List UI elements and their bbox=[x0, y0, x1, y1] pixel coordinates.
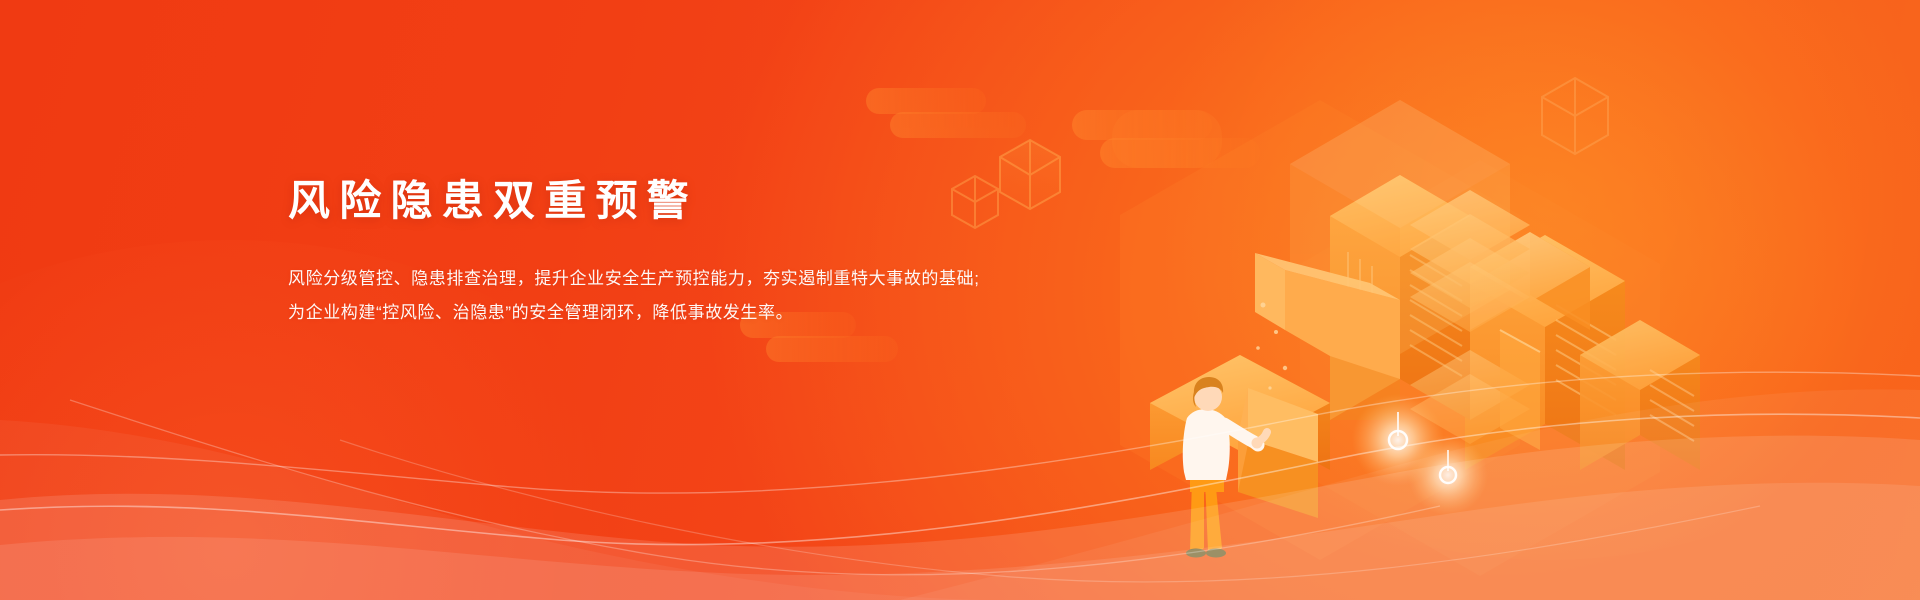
sparkle-dots bbox=[1256, 303, 1287, 390]
person-left-leg bbox=[1190, 478, 1204, 552]
hexagon-cube-fill-small-left bbox=[1000, 140, 1060, 209]
iso-slab-right-lower bbox=[1580, 320, 1700, 470]
wave-line-1 bbox=[0, 414, 1920, 544]
cloud-decoration-upper-left bbox=[866, 88, 1026, 138]
top-right-glow bbox=[1100, 0, 1920, 560]
iso-cross-slab bbox=[1255, 253, 1400, 420]
person-right-shoe bbox=[1206, 549, 1226, 558]
iso-tower-back-right bbox=[1465, 235, 1625, 470]
person-left-shoe bbox=[1186, 549, 1206, 558]
iso-block-mid-right bbox=[1470, 232, 1590, 330]
iso-tower-center bbox=[1330, 175, 1470, 420]
hexagon-cube-icon-right bbox=[1542, 78, 1608, 154]
subtitle-line-1: 风险分级管控、隐患排查治理，提升企业安全生产预控能力，夯实遏制重特大事故的基础; bbox=[288, 262, 1008, 297]
person-fist bbox=[1252, 438, 1263, 449]
iso-panel-thin bbox=[1500, 330, 1540, 450]
banner-subtitle: 风险分级管控、隐患排查治理，提升企业安全生产预控能力，夯实遏制重特大事故的基础;… bbox=[288, 262, 1008, 332]
iso-box-front-left bbox=[1150, 355, 1330, 470]
iso-stacked-plates bbox=[1410, 190, 1530, 444]
iso-box-tilted-small bbox=[1238, 388, 1318, 518]
glow-point-upper bbox=[1352, 394, 1444, 486]
large-hexagon-backdrop-2 bbox=[1300, 160, 1660, 576]
wave-fill-lower bbox=[0, 436, 1920, 600]
wave-soft-right bbox=[900, 389, 1920, 600]
wave-soft-left bbox=[0, 420, 1000, 600]
wave-line-2 bbox=[0, 372, 1920, 493]
hero-banner: 风险隐患双重预警 风险分级管控、隐患排查治理，提升企业安全生产预控能力，夯实遏制… bbox=[0, 0, 1920, 600]
subtitle-line-2: 为企业构建“控风险、治隐患”的安全管理闭环，降低事故发生率。 bbox=[288, 296, 1008, 331]
cloud-decoration-top bbox=[1072, 110, 1260, 168]
person-illustration bbox=[1183, 377, 1267, 558]
person-hip bbox=[1190, 477, 1224, 492]
banner-copy: 风险隐患双重预警 风险分级管控、隐患排查治理，提升企业安全生产预控能力，夯实遏制… bbox=[288, 176, 1008, 331]
iso-cube-faded-top bbox=[1290, 100, 1510, 354]
wave-fill-lowest bbox=[0, 483, 1920, 600]
person-head bbox=[1194, 383, 1222, 411]
person-shirt bbox=[1183, 409, 1230, 480]
person-right-leg bbox=[1205, 478, 1222, 552]
wave-line-3 bbox=[70, 400, 1440, 575]
person-arm bbox=[1224, 424, 1258, 445]
person-hair bbox=[1194, 377, 1223, 398]
hexagon-cube-icon-small-left bbox=[1000, 140, 1060, 209]
person-hand bbox=[1256, 432, 1267, 442]
page-title: 风险隐患双重预警 bbox=[288, 176, 1008, 226]
glow-point-lower bbox=[1408, 435, 1488, 515]
large-hexagon-backdrop bbox=[1120, 100, 1520, 560]
wave-line-4 bbox=[340, 440, 1760, 582]
person-hair-side bbox=[1193, 392, 1196, 407]
